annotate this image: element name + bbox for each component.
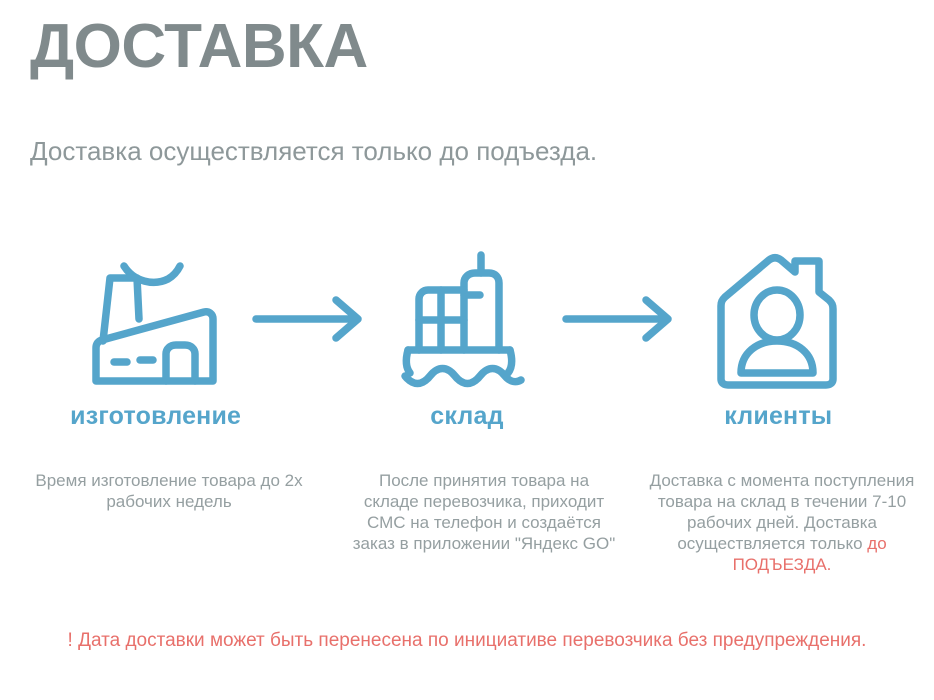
stage-labels-row: изготовление склад клиенты (0, 402, 934, 431)
footer-warning-note: ! Дата доставки может быть перенесена по… (0, 628, 934, 654)
stage-description-clients: Доставка с момента поступления товара на… (630, 470, 934, 575)
stage-label-manufacturing: изготовление (0, 402, 311, 431)
house-client-icon (695, 246, 860, 391)
process-flow-row (0, 246, 934, 391)
arrow-right-icon (240, 289, 385, 349)
stage-label-warehouse: склад (311, 402, 622, 431)
page-title: ДОСТАВКА (30, 12, 368, 82)
stage-label-clients: клиенты (623, 402, 934, 431)
stage-description-warehouse: После принятия товара на складе перевозч… (338, 470, 630, 554)
slide-root: ДОСТАВКА Доставка осуществляется только … (0, 0, 934, 700)
cargo-ship-icon (385, 246, 550, 391)
stage-description-manufacturing: Время изготовление товара до 2х рабочих … (0, 470, 338, 512)
stage-descriptions-row: Время изготовление товара до 2х рабочих … (0, 470, 934, 575)
arrow-right-icon (550, 289, 695, 349)
page-subtitle: Доставка осуществляется только до подъез… (30, 133, 630, 169)
factory-icon (75, 246, 240, 391)
